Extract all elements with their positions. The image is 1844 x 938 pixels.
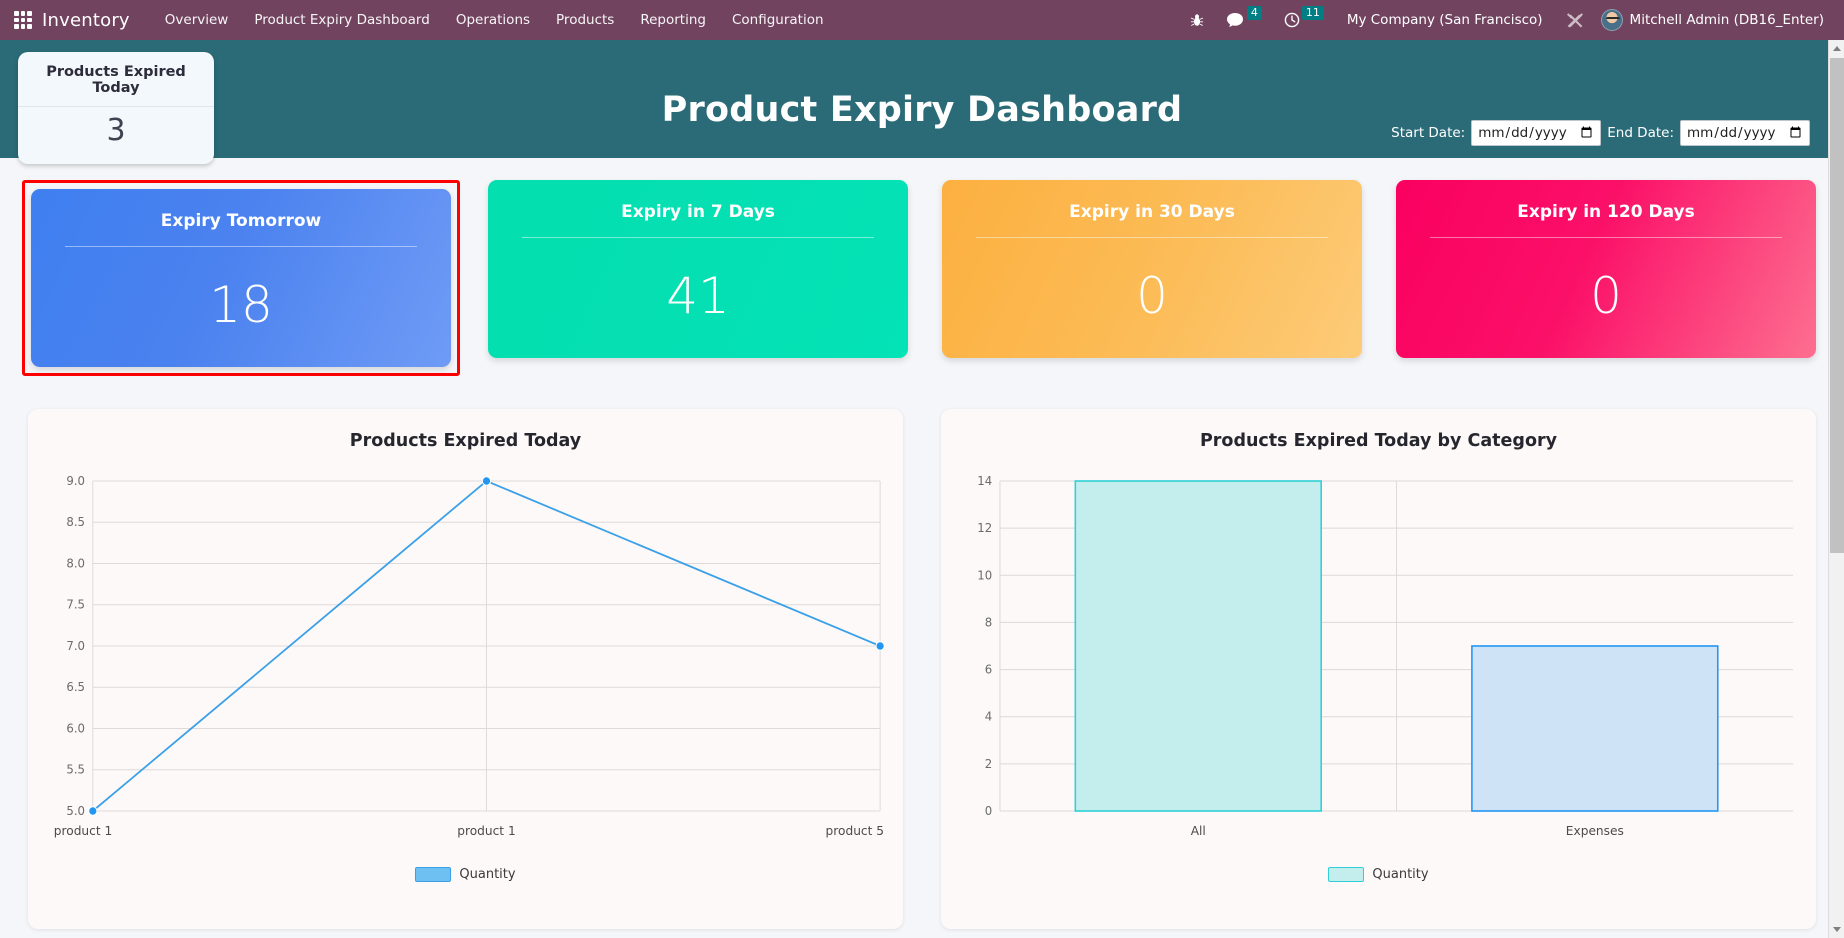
bar-chart-legend: Quantity [959,867,1798,882]
kpi-expiry-30-days-wrapper: Expiry in 30 Days 0 [925,180,1379,358]
svg-text:product 5: product 5 [826,824,884,838]
line-chart-legend: Quantity [46,867,885,882]
app-brand-inventory[interactable]: Inventory [42,10,130,31]
svg-text:12: 12 [977,521,992,535]
kpi-expiry-120-days-wrapper: Expiry in 120 Days 0 [1379,180,1816,358]
top-navbar: Inventory Overview Product Expiry Dashbo… [0,0,1844,40]
dashboard-header: Products Expired Today 3 Product Expiry … [0,40,1844,158]
end-date-input[interactable] [1680,120,1810,146]
legend-label-quantity: Quantity [1372,867,1428,882]
legend-label-quantity: Quantity [459,867,515,882]
svg-text:All: All [1191,824,1206,838]
svg-text:6.0: 6.0 [66,721,85,735]
kpi-card-expiry-120-days[interactable]: Expiry in 120 Days 0 [1396,180,1816,358]
chart-title-line: Products Expired Today [46,431,885,451]
end-date-label: End Date: [1607,125,1674,141]
kpi-label: Expiry in 7 Days [522,202,874,237]
kpi-label: Expiry Tomorrow [65,211,417,246]
svg-text:10: 10 [977,568,992,582]
kpi-value: 0 [976,238,1328,321]
kpi-value: 18 [65,247,417,330]
svg-text:2: 2 [985,757,992,771]
legend-swatch-quantity [1328,867,1364,882]
bug-icon[interactable] [1179,0,1215,40]
kpi-expiry-7-days-wrapper: Expiry in 7 Days 41 [471,180,925,358]
kpi-label: Expiry in 30 Days [976,202,1328,237]
menu-item-overview[interactable]: Overview [152,0,242,40]
scroll-down-arrow-icon[interactable] [1829,921,1844,938]
kpi-value: 41 [522,238,874,321]
svg-text:7.5: 7.5 [66,598,85,612]
svg-text:7.0: 7.0 [66,639,85,653]
kpi-card-row: Expiry Tomorrow 18 Expiry in 7 Days 41 E… [0,158,1844,376]
svg-text:product 1: product 1 [54,824,112,838]
apps-grid-icon[interactable] [14,11,32,29]
chart-title-bar: Products Expired Today by Category [959,431,1798,451]
activities-count-badge: 11 [1302,6,1324,20]
svg-text:5.0: 5.0 [66,804,85,818]
user-menu[interactable]: Mitchell Admin (DB16_Enter) [1595,9,1834,31]
menu-item-configuration[interactable]: Configuration [719,0,837,40]
navbar-systray: 4 11 My Company (San Francisco) Mitchell… [1179,0,1834,40]
chat-bubble-icon [1226,12,1245,29]
svg-text:8.5: 8.5 [66,515,85,529]
wrench-screwdriver-icon[interactable] [1555,0,1595,40]
activities-button[interactable]: 11 [1273,0,1335,40]
svg-text:6: 6 [985,662,992,676]
menu-item-operations[interactable]: Operations [443,0,543,40]
start-date-input[interactable] [1471,120,1601,146]
start-date-label: Start Date: [1391,125,1465,141]
kpi-card-expiry-tomorrow[interactable]: Expiry Tomorrow 18 [31,189,451,367]
page-scrollbar[interactable] [1828,40,1844,938]
user-avatar [1601,9,1623,31]
main-menu: Overview Product Expiry Dashboard Operat… [152,0,837,40]
svg-text:8.0: 8.0 [66,556,85,570]
kpi-value: 0 [1430,238,1782,321]
bar-chart[interactable]: 02468101214AllExpenses [959,473,1798,865]
company-switcher[interactable]: My Company (San Francisco) [1335,12,1555,28]
kpi-expiry-tomorrow-wrapper: Expiry Tomorrow 18 [22,180,460,376]
scrollbar-thumb[interactable] [1830,58,1844,553]
kpi-label: Expiry in 120 Days [1430,202,1782,237]
svg-text:14: 14 [977,474,992,488]
menu-item-products[interactable]: Products [543,0,627,40]
messages-button[interactable]: 4 [1215,0,1273,40]
svg-text:4: 4 [985,710,992,724]
date-filter-group: Start Date: End Date: [1391,120,1810,146]
svg-text:9.0: 9.0 [66,474,85,488]
svg-text:5.5: 5.5 [66,763,85,777]
panel-products-expired-today: Products Expired Today 5.05.56.06.57.07.… [28,409,903,929]
scroll-up-arrow-icon[interactable] [1829,40,1844,57]
svg-text:product 1: product 1 [457,824,515,838]
line-chart[interactable]: 5.05.56.06.57.07.58.08.59.0product 1prod… [46,473,885,865]
menu-item-product-expiry-dashboard[interactable]: Product Expiry Dashboard [241,0,442,40]
svg-text:Expenses: Expenses [1566,824,1624,838]
user-name-label: Mitchell Admin (DB16_Enter) [1630,12,1824,28]
legend-swatch-quantity [415,867,451,882]
clock-icon [1284,12,1300,28]
kpi-card-expiry-7-days[interactable]: Expiry in 7 Days 41 [488,180,908,358]
svg-text:6.5: 6.5 [66,680,85,694]
svg-text:0: 0 [985,804,992,818]
menu-item-reporting[interactable]: Reporting [627,0,719,40]
panel-products-expired-today-by-category: Products Expired Today by Category 02468… [941,409,1816,929]
messages-count-badge: 4 [1247,6,1262,20]
kpi-card-expiry-30-days[interactable]: Expiry in 30 Days 0 [942,180,1362,358]
svg-text:8: 8 [985,615,992,629]
charts-row: Products Expired Today 5.05.56.06.57.07.… [0,376,1844,929]
